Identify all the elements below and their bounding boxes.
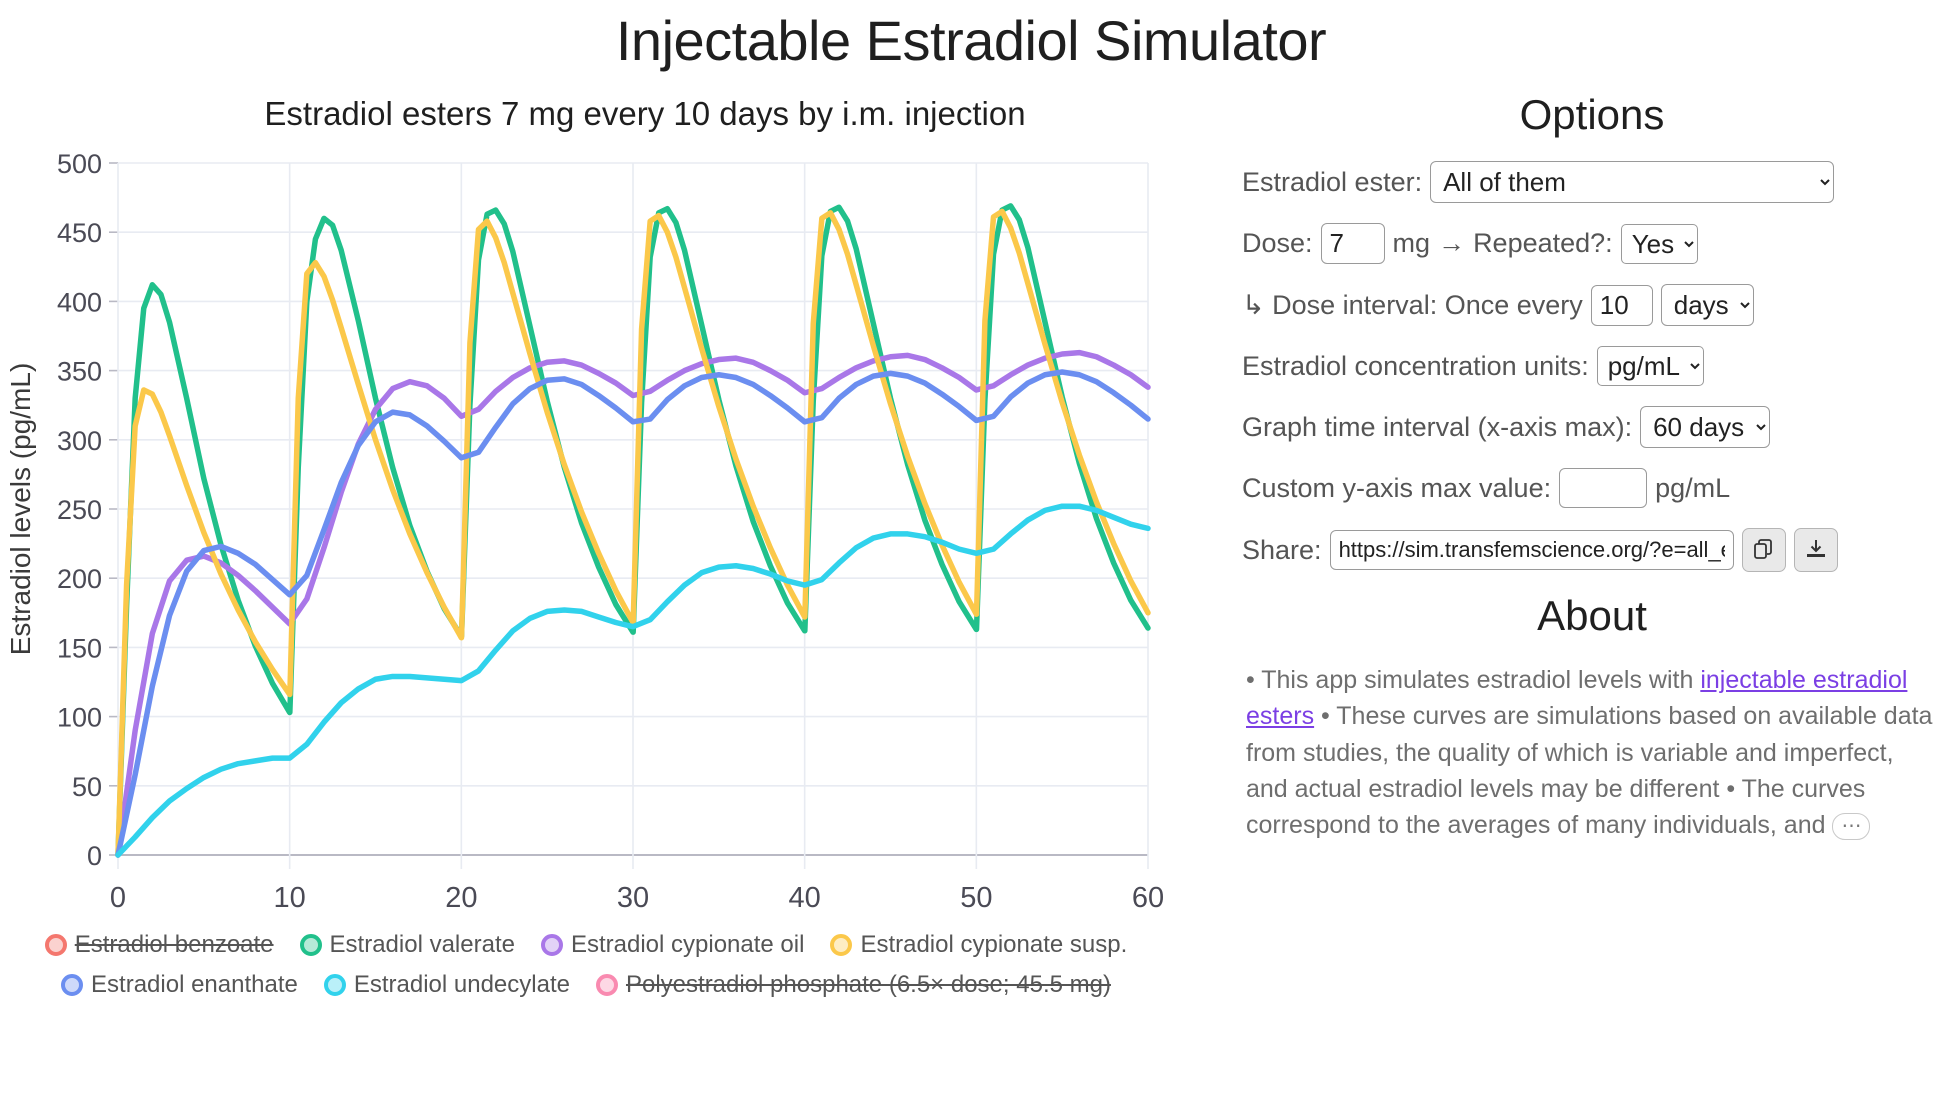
dose-row: Dose: mg → Repeated?: Yes xyxy=(1242,223,1942,264)
legend-color-swatch-icon xyxy=(300,934,322,956)
legend-item[interactable]: Estradiol undecylate xyxy=(324,965,570,1005)
legend-color-swatch-icon xyxy=(596,974,618,996)
svg-text:50: 50 xyxy=(72,772,102,802)
legend-item-label: Estradiol enanthate xyxy=(91,965,298,1005)
copy-icon-button[interactable] xyxy=(1742,528,1786,572)
chart-area: 0501001502002503003504004505000102030405… xyxy=(0,133,1180,923)
time-interval-row: Graph time interval (x-axis max): 60 day… xyxy=(1242,406,1942,448)
estradiol-levels-line-chart: 0501001502002503003504004505000102030405… xyxy=(0,133,1180,923)
time-interval-label: Graph time interval (x-axis max): xyxy=(1242,412,1632,443)
svg-text:100: 100 xyxy=(57,703,102,733)
svg-text:10: 10 xyxy=(274,882,306,914)
svg-text:0: 0 xyxy=(110,882,126,914)
chart-legend: Estradiol benzoateEstradiol valerateEstr… xyxy=(0,925,1160,1005)
ymax-input[interactable] xyxy=(1559,468,1647,508)
arrow-icon: → xyxy=(1438,228,1465,259)
share-row: Share: xyxy=(1242,528,1942,572)
svg-text:30: 30 xyxy=(617,882,649,914)
ymax-unit-label: pg/mL xyxy=(1655,473,1730,504)
svg-text:200: 200 xyxy=(57,564,102,594)
dose-interval-label: ↳ Dose interval: Once every xyxy=(1242,290,1583,321)
dose-interval-row: ↳ Dose interval: Once every days xyxy=(1242,284,1942,326)
chart-title: Estradiol esters 7 mg every 10 days by i… xyxy=(0,95,1230,133)
svg-text:400: 400 xyxy=(57,287,102,317)
legend-item[interactable]: Polyestradiol phosphate (6.5× dose; 45.5… xyxy=(596,965,1111,1005)
units-label: Estradiol concentration units: xyxy=(1242,351,1589,382)
dose-interval-unit-select[interactable]: days xyxy=(1661,284,1754,326)
svg-text:250: 250 xyxy=(57,495,102,525)
dose-input[interactable] xyxy=(1321,223,1385,264)
legend-item[interactable]: Estradiol valerate xyxy=(300,925,515,965)
ester-select[interactable]: All of them xyxy=(1430,161,1834,203)
legend-item-label: Estradiol cypionate susp. xyxy=(860,925,1127,965)
legend-item-label: Estradiol undecylate xyxy=(354,965,570,1005)
svg-text:350: 350 xyxy=(57,357,102,387)
svg-text:300: 300 xyxy=(57,426,102,456)
svg-text:20: 20 xyxy=(445,882,477,914)
repeated-select[interactable]: Yes xyxy=(1621,224,1698,264)
ymax-row: Custom y-axis max value: pg/mL xyxy=(1242,468,1942,508)
legend-item-label: Polyestradiol phosphate (6.5× dose; 45.5… xyxy=(626,965,1111,1005)
legend-color-swatch-icon xyxy=(324,974,346,996)
chart-column: Estradiol esters 7 mg every 10 days by i… xyxy=(0,73,1230,1005)
legend-item[interactable]: Estradiol cypionate susp. xyxy=(830,925,1127,965)
legend-color-swatch-icon xyxy=(61,974,83,996)
share-label: Share: xyxy=(1242,535,1322,566)
share-url-input[interactable] xyxy=(1330,530,1734,570)
legend-item[interactable]: Estradiol benzoate xyxy=(45,925,274,965)
about-part2: • These curves are simulations based on … xyxy=(1246,702,1932,839)
legend-item-label: Estradiol benzoate xyxy=(75,925,274,965)
svg-text:150: 150 xyxy=(57,633,102,663)
dose-label: Dose: xyxy=(1242,228,1313,259)
legend-color-swatch-icon xyxy=(541,934,563,956)
about-part1: • This app simulates estradiol levels wi… xyxy=(1246,666,1700,694)
svg-text:50: 50 xyxy=(960,882,992,914)
main-layout: Estradiol esters 7 mg every 10 days by i… xyxy=(0,73,1942,1005)
download-icon xyxy=(1804,537,1828,564)
options-column: Options Estradiol ester: All of them Dos… xyxy=(1230,73,1942,1005)
svg-text:0: 0 xyxy=(87,841,102,871)
options-heading: Options xyxy=(1242,91,1942,139)
legend-item[interactable]: Estradiol enanthate xyxy=(61,965,298,1005)
page-title: Injectable Estradiol Simulator xyxy=(0,8,1942,73)
units-select[interactable]: pg/mL xyxy=(1597,346,1704,386)
legend-color-swatch-icon xyxy=(45,934,67,956)
legend-color-swatch-icon xyxy=(830,934,852,956)
about-heading: About xyxy=(1242,592,1942,640)
time-interval-select[interactable]: 60 days xyxy=(1640,406,1770,448)
about-text: • This app simulates estradiol levels wi… xyxy=(1242,662,1942,843)
svg-text:60: 60 xyxy=(1132,882,1164,914)
legend-item[interactable]: Estradiol cypionate oil xyxy=(541,925,804,965)
ester-row: Estradiol ester: All of them xyxy=(1242,161,1942,203)
svg-text:500: 500 xyxy=(57,149,102,179)
units-row: Estradiol concentration units: pg/mL xyxy=(1242,346,1942,386)
legend-item-label: Estradiol valerate xyxy=(330,925,515,965)
svg-text:450: 450 xyxy=(57,218,102,248)
ester-label: Estradiol ester: xyxy=(1242,167,1422,198)
repeated-label: Repeated?: xyxy=(1473,228,1613,259)
svg-text:Estradiol levels (pg/mL): Estradiol levels (pg/mL) xyxy=(5,363,36,656)
show-more-button[interactable]: ⋯ xyxy=(1832,813,1870,840)
svg-text:40: 40 xyxy=(789,882,821,914)
legend-item-label: Estradiol cypionate oil xyxy=(571,925,804,965)
ymax-label: Custom y-axis max value: xyxy=(1242,473,1551,504)
dose-unit-label: mg xyxy=(1393,228,1431,259)
copy-icon xyxy=(1752,537,1776,564)
dose-interval-input[interactable] xyxy=(1591,285,1653,326)
download-icon-button[interactable] xyxy=(1794,528,1838,572)
